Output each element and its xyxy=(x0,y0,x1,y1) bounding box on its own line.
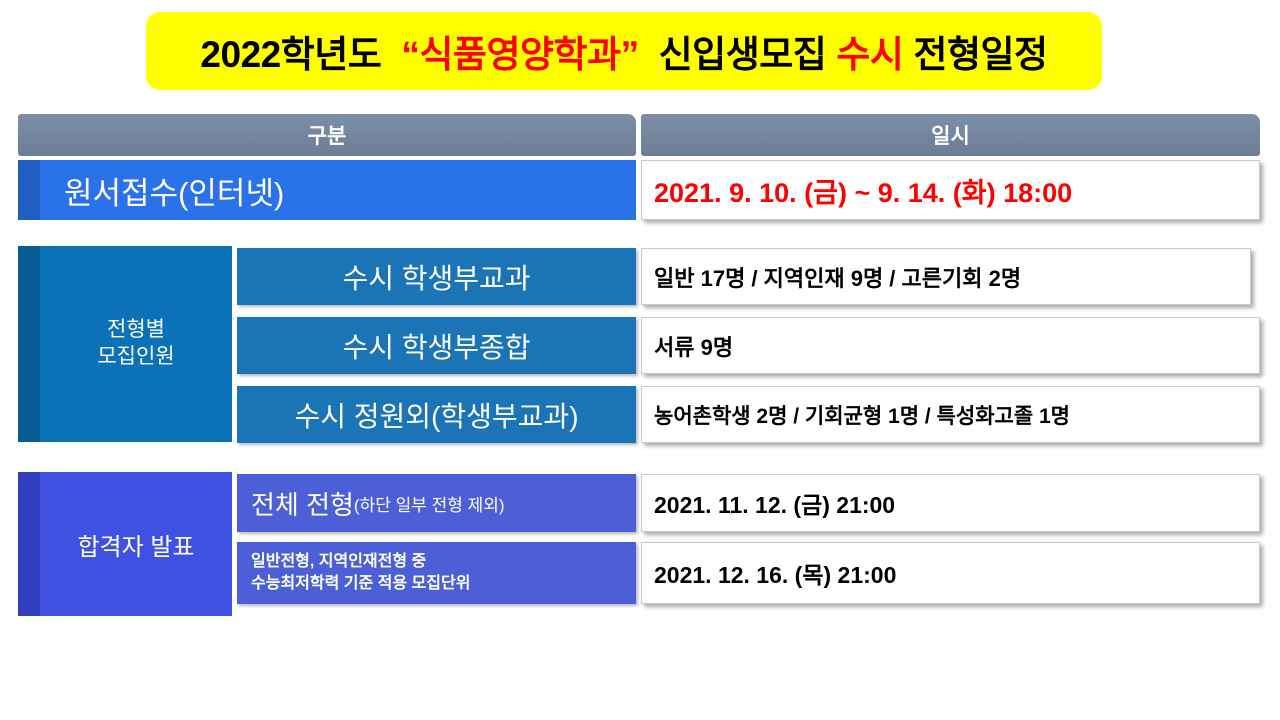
title-part-schedule: 전형일정 xyxy=(913,24,1047,78)
row-group-announcement: 합격자 발표 전체 전형 (하단 일부 전형 제외) 2021. 11. 12.… xyxy=(18,472,1260,616)
row-application-value: 2021. 9. 10. (금) ~ 9. 14. (화) 18:00 xyxy=(641,160,1260,220)
schedule-table: 구분 일시 원서접수(인터넷) 2021. 9. 10. (금) ~ 9. 14… xyxy=(18,114,1260,624)
quota-label-line1: 전형별 xyxy=(107,317,165,344)
announcement-all-main: 전체 전형 xyxy=(251,485,354,522)
announcement-minimum-line2: 수능최저학력 기준 적용 모집단위 xyxy=(251,573,470,595)
quota-value-gyogwa: 일반 17명 / 지역인재 9명 / 고른기회 2명 xyxy=(641,248,1251,305)
quota-subject-label-jeongwonoe: 수시 정원외(학생부교과) xyxy=(237,386,636,443)
announcement-minimum-line1: 일반전형, 지역인재전형 중 xyxy=(251,551,426,573)
announcement-subject-label-minimum: 일반전형, 지역인재전형 중 수능최저학력 기준 적용 모집단위 xyxy=(237,542,636,604)
table-header-category: 구분 xyxy=(18,114,636,156)
row-application-label: 원서접수(인터넷) xyxy=(40,160,636,220)
table-header-date: 일시 xyxy=(641,114,1260,156)
quota-value-jonghap: 서류 9명 xyxy=(641,317,1260,374)
announcement-value-minimum: 2021. 12. 16. (목) 21:00 xyxy=(641,542,1260,604)
announcement-value-all: 2021. 11. 12. (금) 21:00 xyxy=(641,474,1260,532)
quota-value-jeongwonoe: 농어촌학생 2명 / 기회균형 1명 / 특성화고졸 1명 xyxy=(641,386,1260,443)
row-application: 원서접수(인터넷) 2021. 9. 10. (금) ~ 9. 14. (화) … xyxy=(18,160,1260,220)
quota-label-line2: 모집인원 xyxy=(97,344,174,371)
title-part-recruit: 신입생모집 xyxy=(659,24,827,78)
announcement-all-note: (하단 일부 전형 제외) xyxy=(354,491,505,516)
title-part-susi: 수시 xyxy=(836,24,903,78)
row-group-quota-accent-strip xyxy=(18,246,40,442)
title-part-year: 2022학년도 xyxy=(200,24,381,78)
title-part-department: “식품영양학과” xyxy=(401,24,638,78)
row-group-quota-label: 전형별 모집인원 xyxy=(40,246,232,442)
row-group-quota: 전형별 모집인원 수시 학생부교과 일반 17명 / 지역인재 9명 / 고른기… xyxy=(18,246,1260,442)
quota-subject-label-jonghap: 수시 학생부종합 xyxy=(237,317,636,374)
quota-subject-label-gyogwa: 수시 학생부교과 xyxy=(237,248,636,305)
row-group-announcement-accent-strip xyxy=(18,472,40,616)
announcement-subject-label-all: 전체 전형 (하단 일부 전형 제외) xyxy=(237,474,636,532)
row-application-accent-strip xyxy=(18,160,40,220)
row-group-announcement-label: 합격자 발표 xyxy=(40,472,232,616)
page-title-banner: 2022학년도 “식품영양학과” 신입생모집 수시 전형일정 xyxy=(146,12,1102,90)
